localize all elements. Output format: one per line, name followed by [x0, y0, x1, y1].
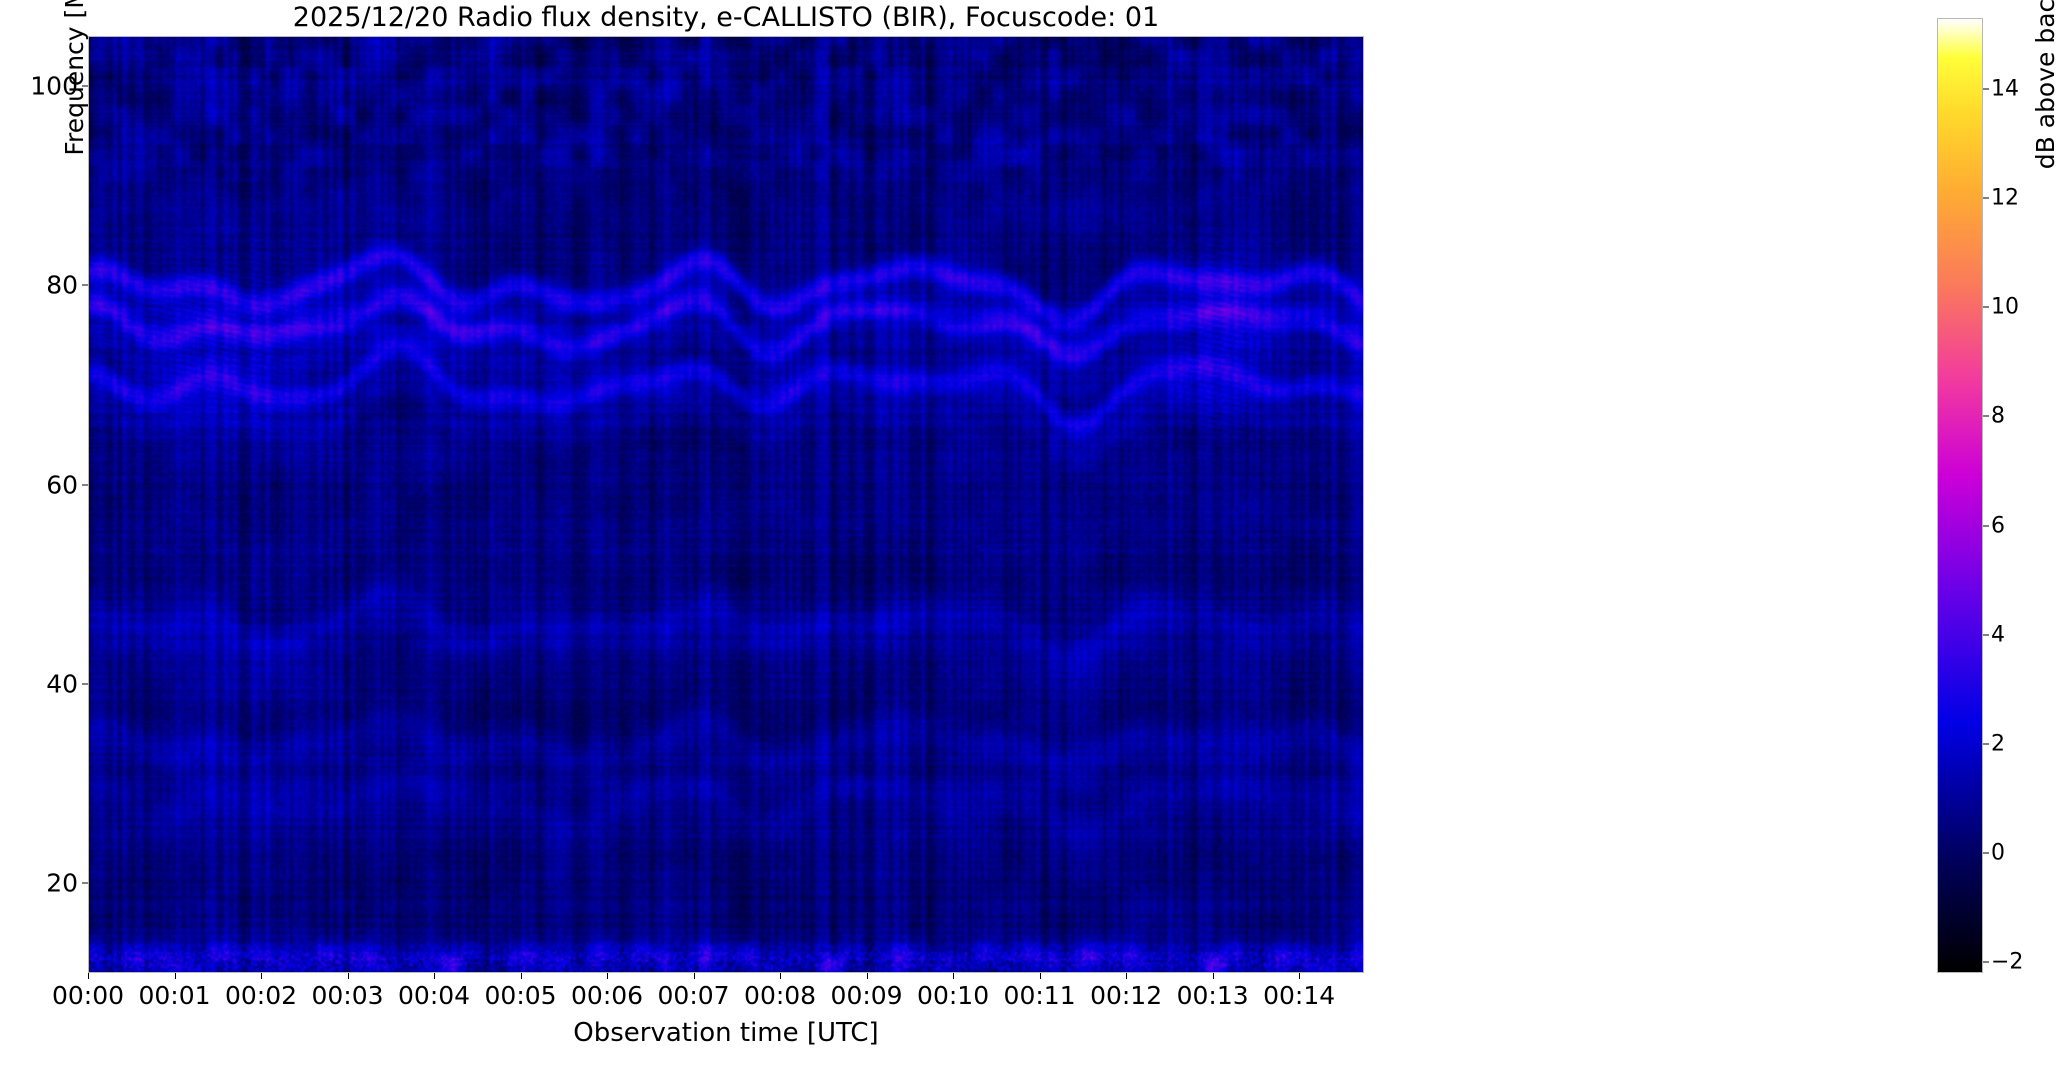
colorbar-tick-label: 8: [1991, 404, 2005, 429]
x-axis-tick-mark: [175, 973, 176, 979]
x-axis-tick-mark: [607, 973, 608, 979]
colorbar-tick-marks: [1983, 18, 1989, 973]
spectrogram-plot[interactable]: [88, 36, 1364, 973]
x-axis-tick-label: 00:05: [485, 981, 557, 1010]
x-axis-tick-mark: [1126, 973, 1127, 979]
colorbar-tick-mark: [1983, 852, 1989, 853]
spectrogram-figure: 2025/12/20 Radio flux density, e-CALLIST…: [0, 0, 2066, 1067]
x-axis-tick-label: 00:14: [1263, 981, 1335, 1010]
colorbar-tick-label: 14: [1991, 76, 2019, 101]
spectrogram-image[interactable]: [89, 37, 1364, 973]
x-axis-tick-label: 00:00: [52, 981, 124, 1010]
y-axis-tick-label: 40: [46, 669, 78, 698]
x-axis-tick-label: 00:03: [311, 981, 383, 1010]
x-axis-title: Observation time [UTC]: [88, 1018, 1364, 1048]
y-axis-tick-label: 20: [46, 869, 78, 898]
x-axis-tick-label: 00:13: [1177, 981, 1249, 1010]
y-axis-tick-mark: [82, 883, 88, 884]
colorbar-tick-label: 10: [1991, 295, 2019, 320]
y-axis-title-wrap: Frequency [MHz]: [6, 36, 36, 973]
x-axis-tick-label: 00:10: [917, 981, 989, 1010]
x-axis-tick-labels: 00:0000:0100:0200:0300:0400:0500:0600:07…: [88, 981, 1364, 1015]
x-axis-tick-mark: [1213, 973, 1214, 979]
x-axis-tick-label: 00:11: [1004, 981, 1076, 1010]
colorbar-title-wrap: dB above background: [2030, 18, 2060, 973]
colorbar-title: dB above background: [2031, 0, 2060, 510]
colorbar-tick-mark: [1983, 962, 1989, 963]
x-axis-tick-label: 00:07: [658, 981, 730, 1010]
colorbar-tick-label: 4: [1991, 622, 2005, 647]
x-axis-tick-mark: [953, 973, 954, 979]
x-axis-tick-mark: [1040, 973, 1041, 979]
x-axis-tick-mark: [694, 973, 695, 979]
colorbar[interactable]: [1937, 18, 1983, 973]
x-axis-tick-mark: [434, 973, 435, 979]
colorbar-tick-mark: [1983, 88, 1989, 89]
colorbar-tick-mark: [1983, 198, 1989, 199]
colorbar-tick-mark: [1983, 743, 1989, 744]
x-axis-tick-label: 00:09: [831, 981, 903, 1010]
colorbar-tick-mark: [1983, 416, 1989, 417]
colorbar-tick-label: 6: [1991, 513, 2005, 538]
x-axis-tick-label: 00:01: [138, 981, 210, 1010]
x-axis-tick-mark: [1299, 973, 1300, 979]
x-axis-tick-label: 00:06: [571, 981, 643, 1010]
x-axis-tick-mark: [348, 973, 349, 979]
colorbar-tick-mark: [1983, 525, 1989, 526]
page-title: 2025/12/20 Radio flux density, e-CALLIST…: [88, 2, 1364, 34]
x-axis-tick-mark: [867, 973, 868, 979]
y-axis-title: Frequency [MHz]: [60, 0, 89, 519]
x-axis-tick-label: 00:02: [225, 981, 297, 1010]
x-axis-tick-mark: [261, 973, 262, 979]
colorbar-tick-label: 2: [1991, 731, 2005, 756]
x-axis-tick-marks: [88, 973, 1364, 979]
colorbar-tick-label: −2: [1991, 950, 2023, 975]
x-axis-tick-mark: [521, 973, 522, 979]
colorbar-tick-label: 0: [1991, 840, 2005, 865]
x-axis-tick-label: 00:04: [398, 981, 470, 1010]
colorbar-tick-label: 12: [1991, 186, 2019, 211]
x-axis-tick-label: 00:08: [744, 981, 816, 1010]
colorbar-tick-mark: [1983, 307, 1989, 308]
colorbar-tick-mark: [1983, 634, 1989, 635]
x-axis-tick-label: 00:12: [1090, 981, 1162, 1010]
colorbar-gradient: [1937, 18, 1983, 973]
x-axis-tick-mark: [88, 973, 89, 979]
x-axis-tick-mark: [780, 973, 781, 979]
y-axis-tick-mark: [82, 683, 88, 684]
